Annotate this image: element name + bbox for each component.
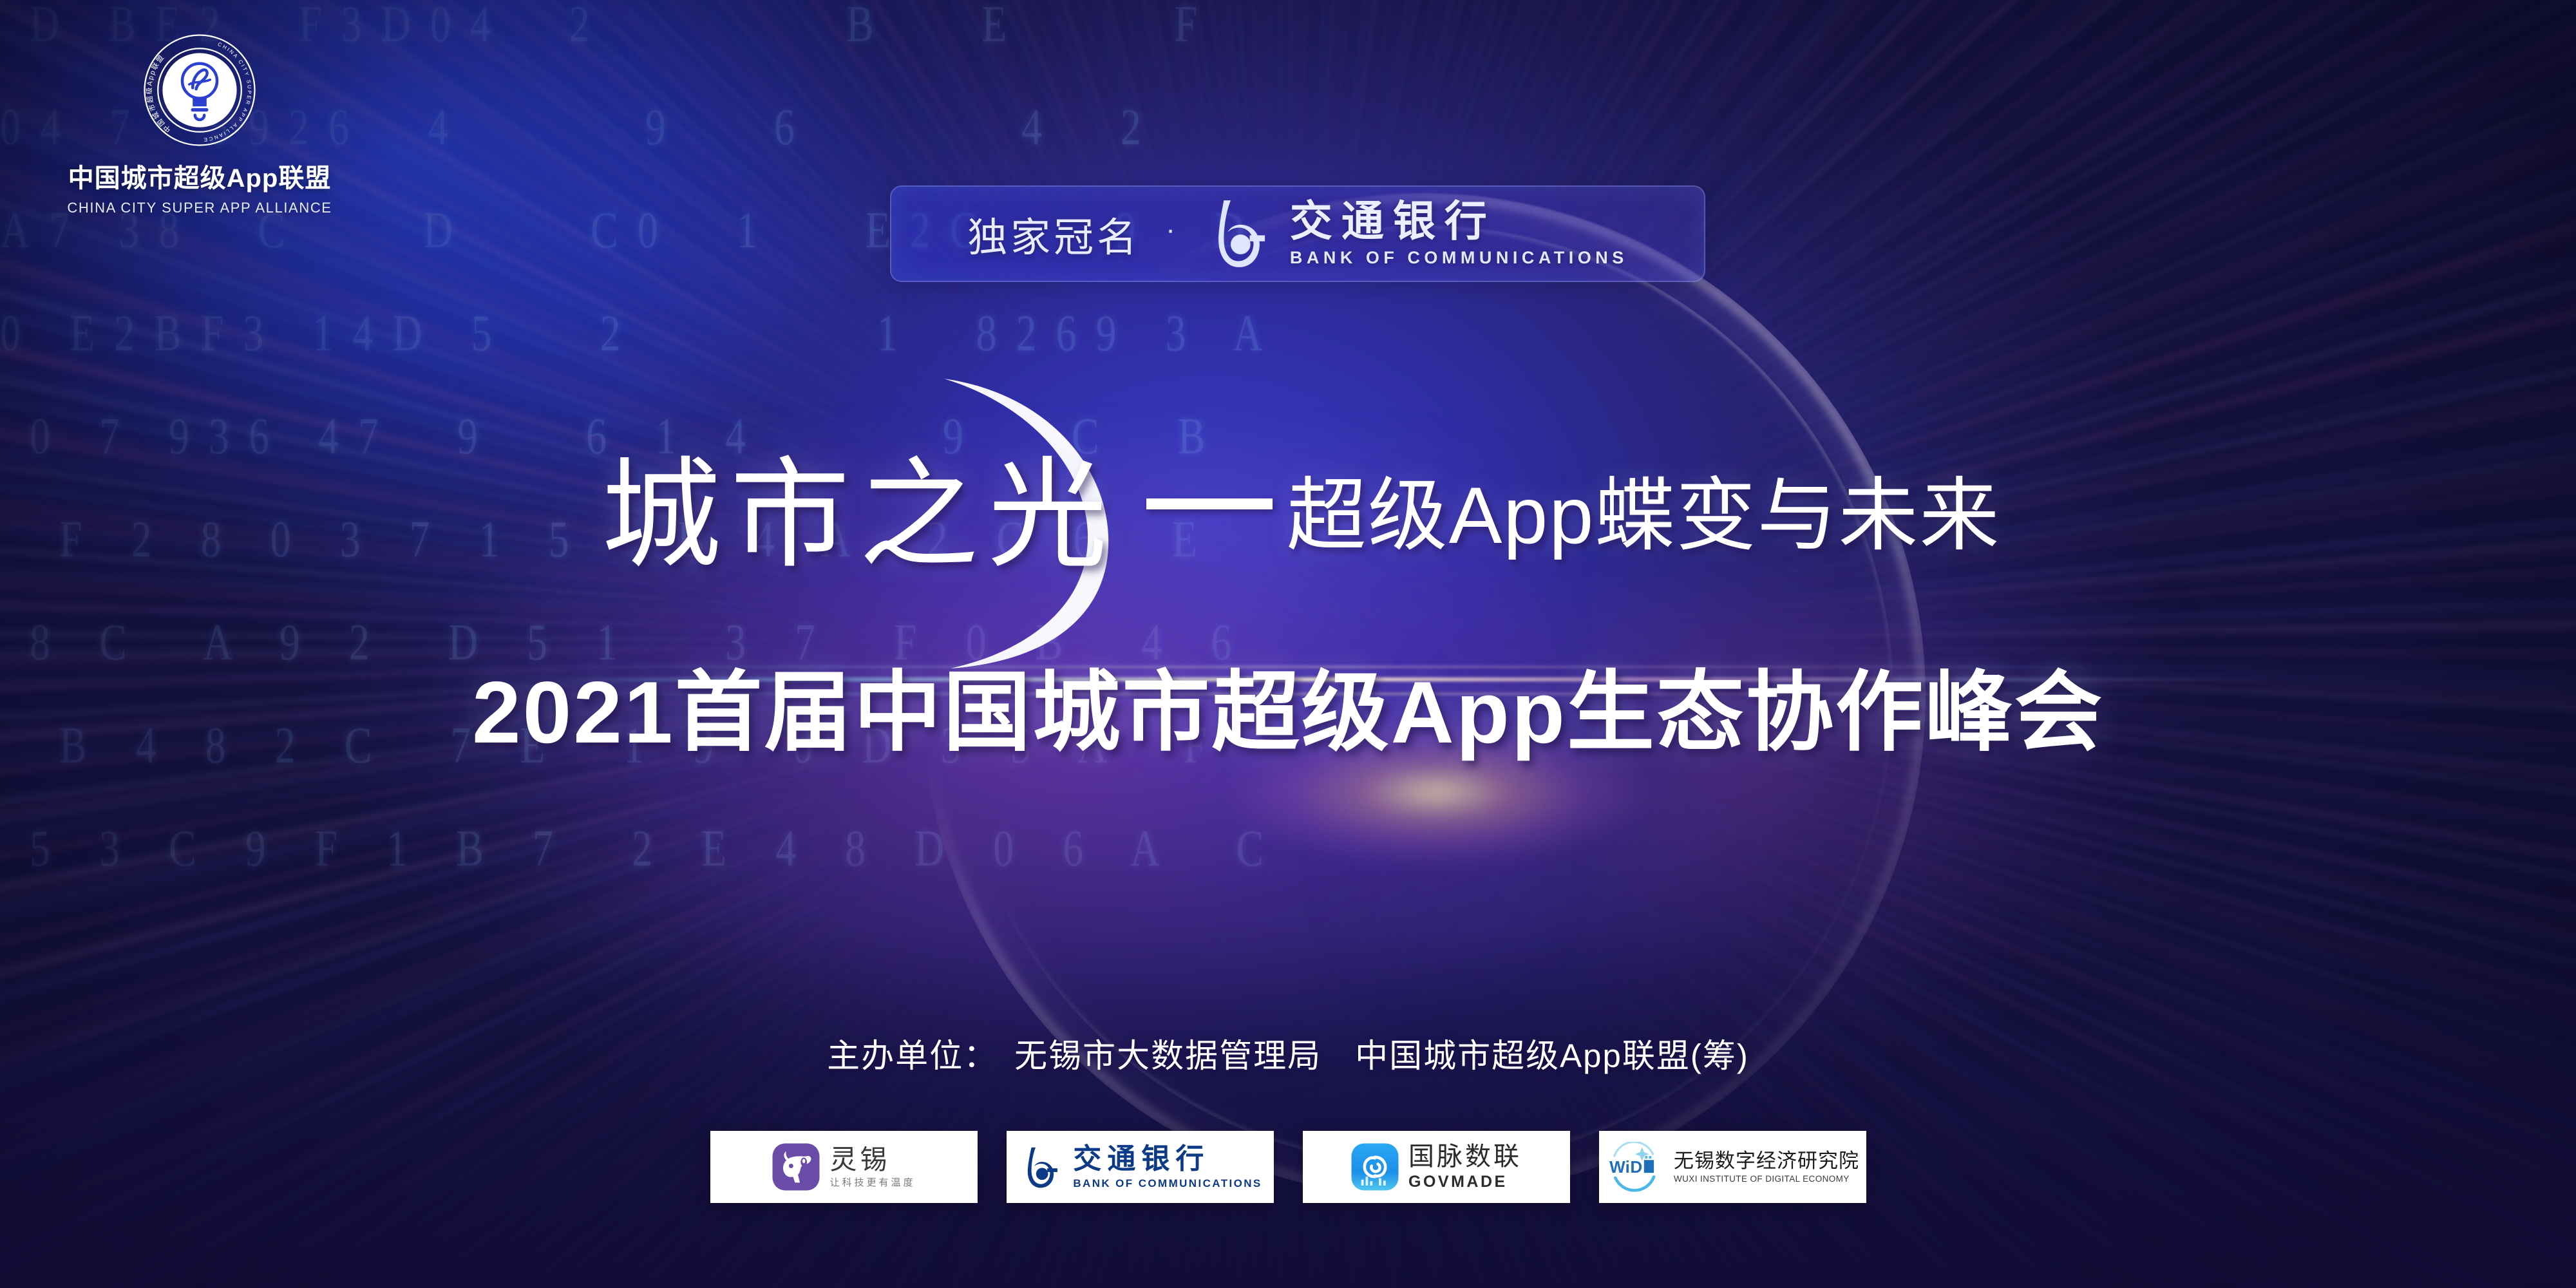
alliance-name-cn: 中国城市超级App联盟 [64,157,335,194]
rhino-app-icon [772,1142,820,1191]
svg-text:i: i [1625,1157,1630,1177]
svg-text:D: D [1630,1157,1642,1177]
event-poster: 7 9A D 6 L C D BE2 F3D04 2 B E F 04 7 59… [0,0,2576,1288]
crescent-swoosh-icon [868,371,1139,674]
sponsor-logo-bocom[interactable]: 交通银行 BANK OF COMMUNICATIONS [1007,1131,1274,1203]
organizer-label: 主办单位： [827,1037,998,1074]
alliance-name-en: CHINA CITY SUPER APP ALLIANCE [64,200,335,216]
bocom-wordmark: 交通银行 BANK OF COMMUNICATIONS [1290,201,1628,267]
title-sponsor-banner: 独家冠名 · 交通银行 BANK OF COMMUNICATIONS [890,185,1705,282]
bocom-logo-name-cn: 交通银行 [1073,1145,1209,1173]
lingxi-tagline: 让科技更有温度 [829,1178,915,1188]
bocom-lockup: 交通银行 BANK OF COMMUNICATIONS [1201,196,1628,272]
spiral-app-icon [1350,1142,1399,1191]
svg-text:W: W [1609,1157,1625,1177]
lightbulb-seal-icon: 中国城市超级App联盟 CHINA CITY SUPER APP ALLIANC… [142,32,258,148]
title-sponsor-separator: · [1166,214,1175,246]
title-sponsor-label: 独家冠名 [967,205,1140,263]
organizer-name-1: 无锡市大数据管理局 [1014,1037,1321,1074]
bocom-name-en: BANK OF COMMUNICATIONS [1290,249,1628,267]
sponsor-logo-strip: 灵锡 让科技更有温度 交通银行 BANK OF COMMUNICATIONS [0,1131,2576,1203]
alliance-logo-lockup: 中国城市超级App联盟 CHINA CITY SUPER APP ALLIANC… [64,32,335,216]
wide-name-cn: 无锡数字经济研究院 [1674,1151,1859,1171]
sponsor-logo-wide[interactable]: W i D 无锡数字经济研究院 WUXI INSTITUTE OF DIGITA… [1599,1131,1866,1203]
event-name: 2021首届中国城市超级App生态协作峰会 [0,662,2576,762]
wide-name-en: WUXI INSTITUTE OF DIGITAL ECONOMY [1674,1175,1850,1184]
headline-subtitle: 超级App蝶变与未来 [1287,476,2001,556]
bocom-logo-name-en: BANK OF COMMUNICATIONS [1073,1178,1262,1189]
govmade-name-en: GOVMADE [1408,1174,1508,1190]
bocom-logo-icon [1018,1144,1064,1190]
lingxi-name-cn: 灵锡 [829,1146,890,1173]
organizer-line: 主办单位：无锡市大数据管理局中国城市超级App联盟(筹) [0,1029,2576,1077]
organizer-name-2: 中国城市超级App联盟(筹) [1355,1037,1749,1074]
wide-wordmark-icon: W i D [1605,1142,1665,1192]
headline-row: 城市之光 超级App蝶变与未来 [0,442,2576,590]
sponsor-logo-lingxi[interactable]: 灵锡 让科技更有温度 [710,1131,978,1203]
sponsor-logo-govmade[interactable]: 国脉数联 GOVMADE [1303,1131,1570,1203]
bocom-logo-icon [1201,196,1277,272]
govmade-name-cn: 国脉数联 [1408,1144,1522,1170]
poster-content-layer: 中国城市超级App联盟 CHINA CITY SUPER APP ALLIANC… [0,0,2576,1288]
bocom-name-cn: 交通银行 [1290,201,1496,243]
headline-dash [1146,498,1273,509]
headline-main-title: 城市之光 [601,456,1117,576]
